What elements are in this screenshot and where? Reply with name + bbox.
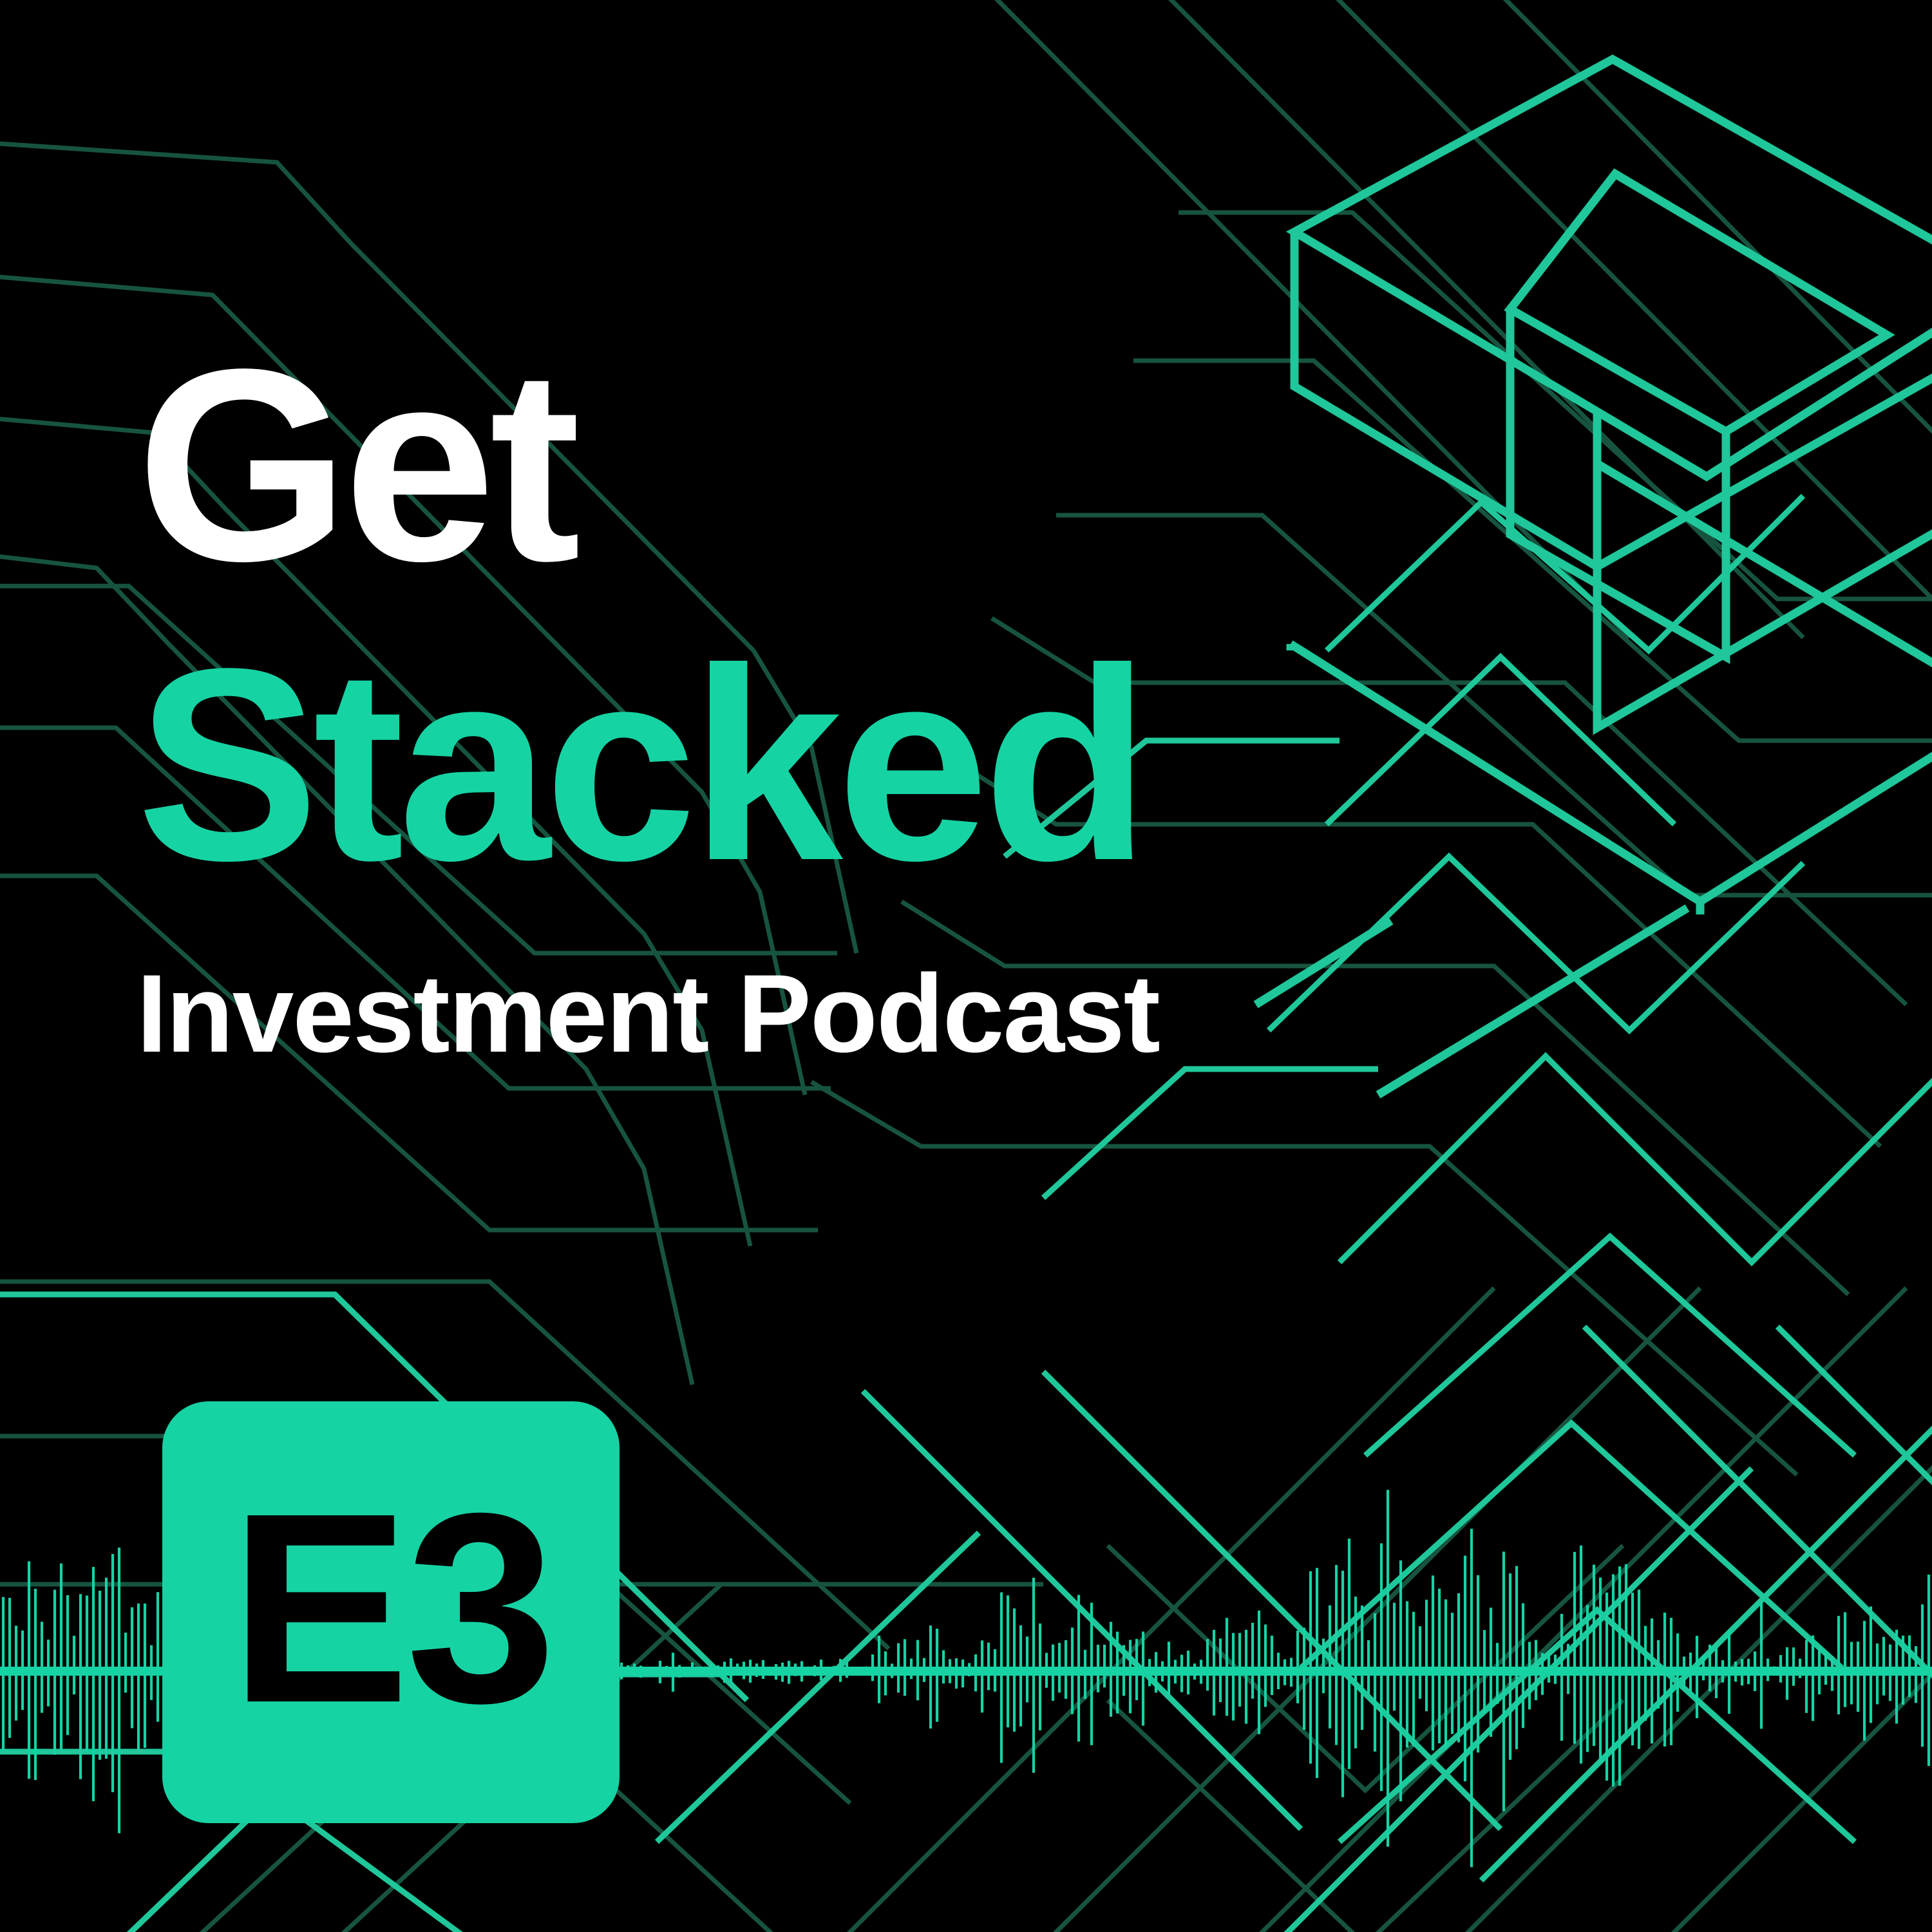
podcast-cover-art: Get Stacked Investment Podcast E3 [0,0,1932,1932]
title-line-get: Get [137,332,1875,600]
title-block: Get Stacked Investment Podcast [137,332,1875,1069]
episode-badge-label: E3 [229,1473,552,1744]
title-line-stacked: Stacked [137,631,1875,900]
episode-badge: E3 [162,1401,620,1823]
subtitle: Investment Podcast [137,958,1875,1069]
